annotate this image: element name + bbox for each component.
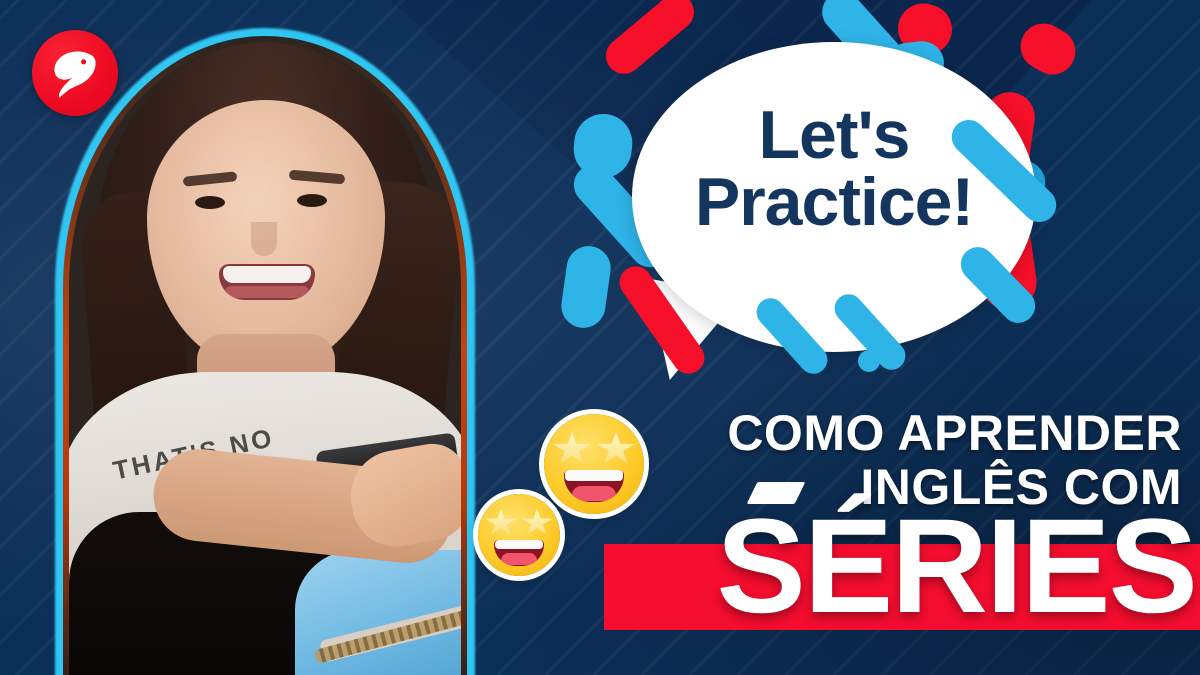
emoji-mouth	[494, 540, 543, 566]
title-block: COMO APRENDER INGLÊS COM SÉRIES	[600, 408, 1200, 675]
speech-bubble-group: Let's Practice!	[586, 18, 1200, 418]
star-eye-left-icon	[552, 432, 592, 466]
teeth	[223, 266, 311, 283]
nose	[251, 222, 277, 256]
star-eye-left-icon	[485, 509, 518, 537]
title-highlight-series: SÉRIES	[600, 500, 1200, 634]
decor-dot-cyan	[858, 350, 880, 372]
emoji-upper-teeth	[495, 540, 542, 549]
speech-bubble-line2: Practice!	[632, 169, 1036, 236]
presenter-photo: THAT'S NO	[69, 42, 461, 675]
mouth-smiling	[219, 264, 315, 300]
title-line-1: COMO APRENDER	[600, 408, 1200, 458]
emoji-tongue	[501, 553, 536, 565]
presenter-cutout: THAT'S NO	[25, 28, 505, 675]
star-eye-right-icon	[521, 509, 554, 537]
eye-right	[297, 194, 327, 207]
decor-capsule-red-6	[1012, 15, 1083, 83]
eye-left	[195, 196, 225, 209]
star-struck-emoji-small	[478, 494, 560, 576]
youtube-thumbnail: THAT'S NO Let's Practice!	[0, 0, 1200, 675]
lower-lip	[225, 286, 309, 298]
